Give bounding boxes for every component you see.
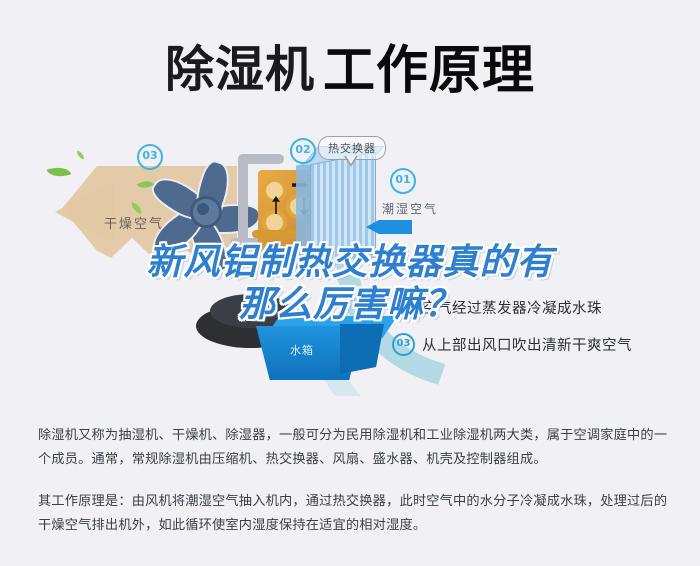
legend-badge-02: 02 xyxy=(392,296,415,319)
fan-illustration xyxy=(150,158,270,268)
legend-list: 02 空气经过蒸发器冷凝成水珠 03 从上部出风口吹出清新干爽空气 xyxy=(392,296,632,370)
paragraph-2: 其工作原理是：由风机将潮湿空气抽入机内，通过热交换器，此时空气中的水分子冷凝成水… xyxy=(38,490,668,538)
fan-hub-center xyxy=(197,203,209,215)
legend-text-02: 空气经过蒸发器冷凝成水珠 xyxy=(422,297,602,318)
leaf-icon xyxy=(47,163,72,181)
pipe-segment xyxy=(238,154,284,164)
legend-item: 02 空气经过蒸发器冷凝成水珠 xyxy=(392,296,632,319)
callout-tail-icon xyxy=(344,156,358,167)
title-part-1: 除湿机 xyxy=(165,41,315,98)
pipe-segment xyxy=(238,154,248,250)
leaf-icon xyxy=(75,151,86,160)
page-title: 除湿机工作原理 xyxy=(0,28,700,103)
water-tank-label: 水箱 xyxy=(290,342,314,358)
badge-01: 01 xyxy=(390,168,416,194)
paragraph-1: 除湿机又称为抽湿机、干燥机、除湿器，一般可分为民用除湿机和工业除湿机两大类，属于… xyxy=(38,424,668,472)
article-body: 除湿机又称为抽湿机、干燥机、除湿器，一般可分为民用除湿机和工业除湿机两大类，属于… xyxy=(38,424,668,556)
badge-03: 03 xyxy=(137,144,163,170)
pipe-segment xyxy=(252,230,298,238)
dehumidifier-diagram: 干燥空气 xyxy=(0,118,700,396)
heat-exchanger-fins xyxy=(310,152,376,271)
badge-02: 02 xyxy=(290,138,316,164)
legend-item: 03 从上部出风口吹出清新干爽空气 xyxy=(392,333,632,356)
legend-text-03: 从上部出风口吹出清新干爽空气 xyxy=(422,334,632,355)
legend-badge-03: 03 xyxy=(392,333,415,356)
humid-air-label: 潮湿空气 xyxy=(382,200,438,217)
title-part-2: 工作原理 xyxy=(323,41,535,101)
page-root: 除湿机工作原理 干燥空气 xyxy=(0,0,700,566)
